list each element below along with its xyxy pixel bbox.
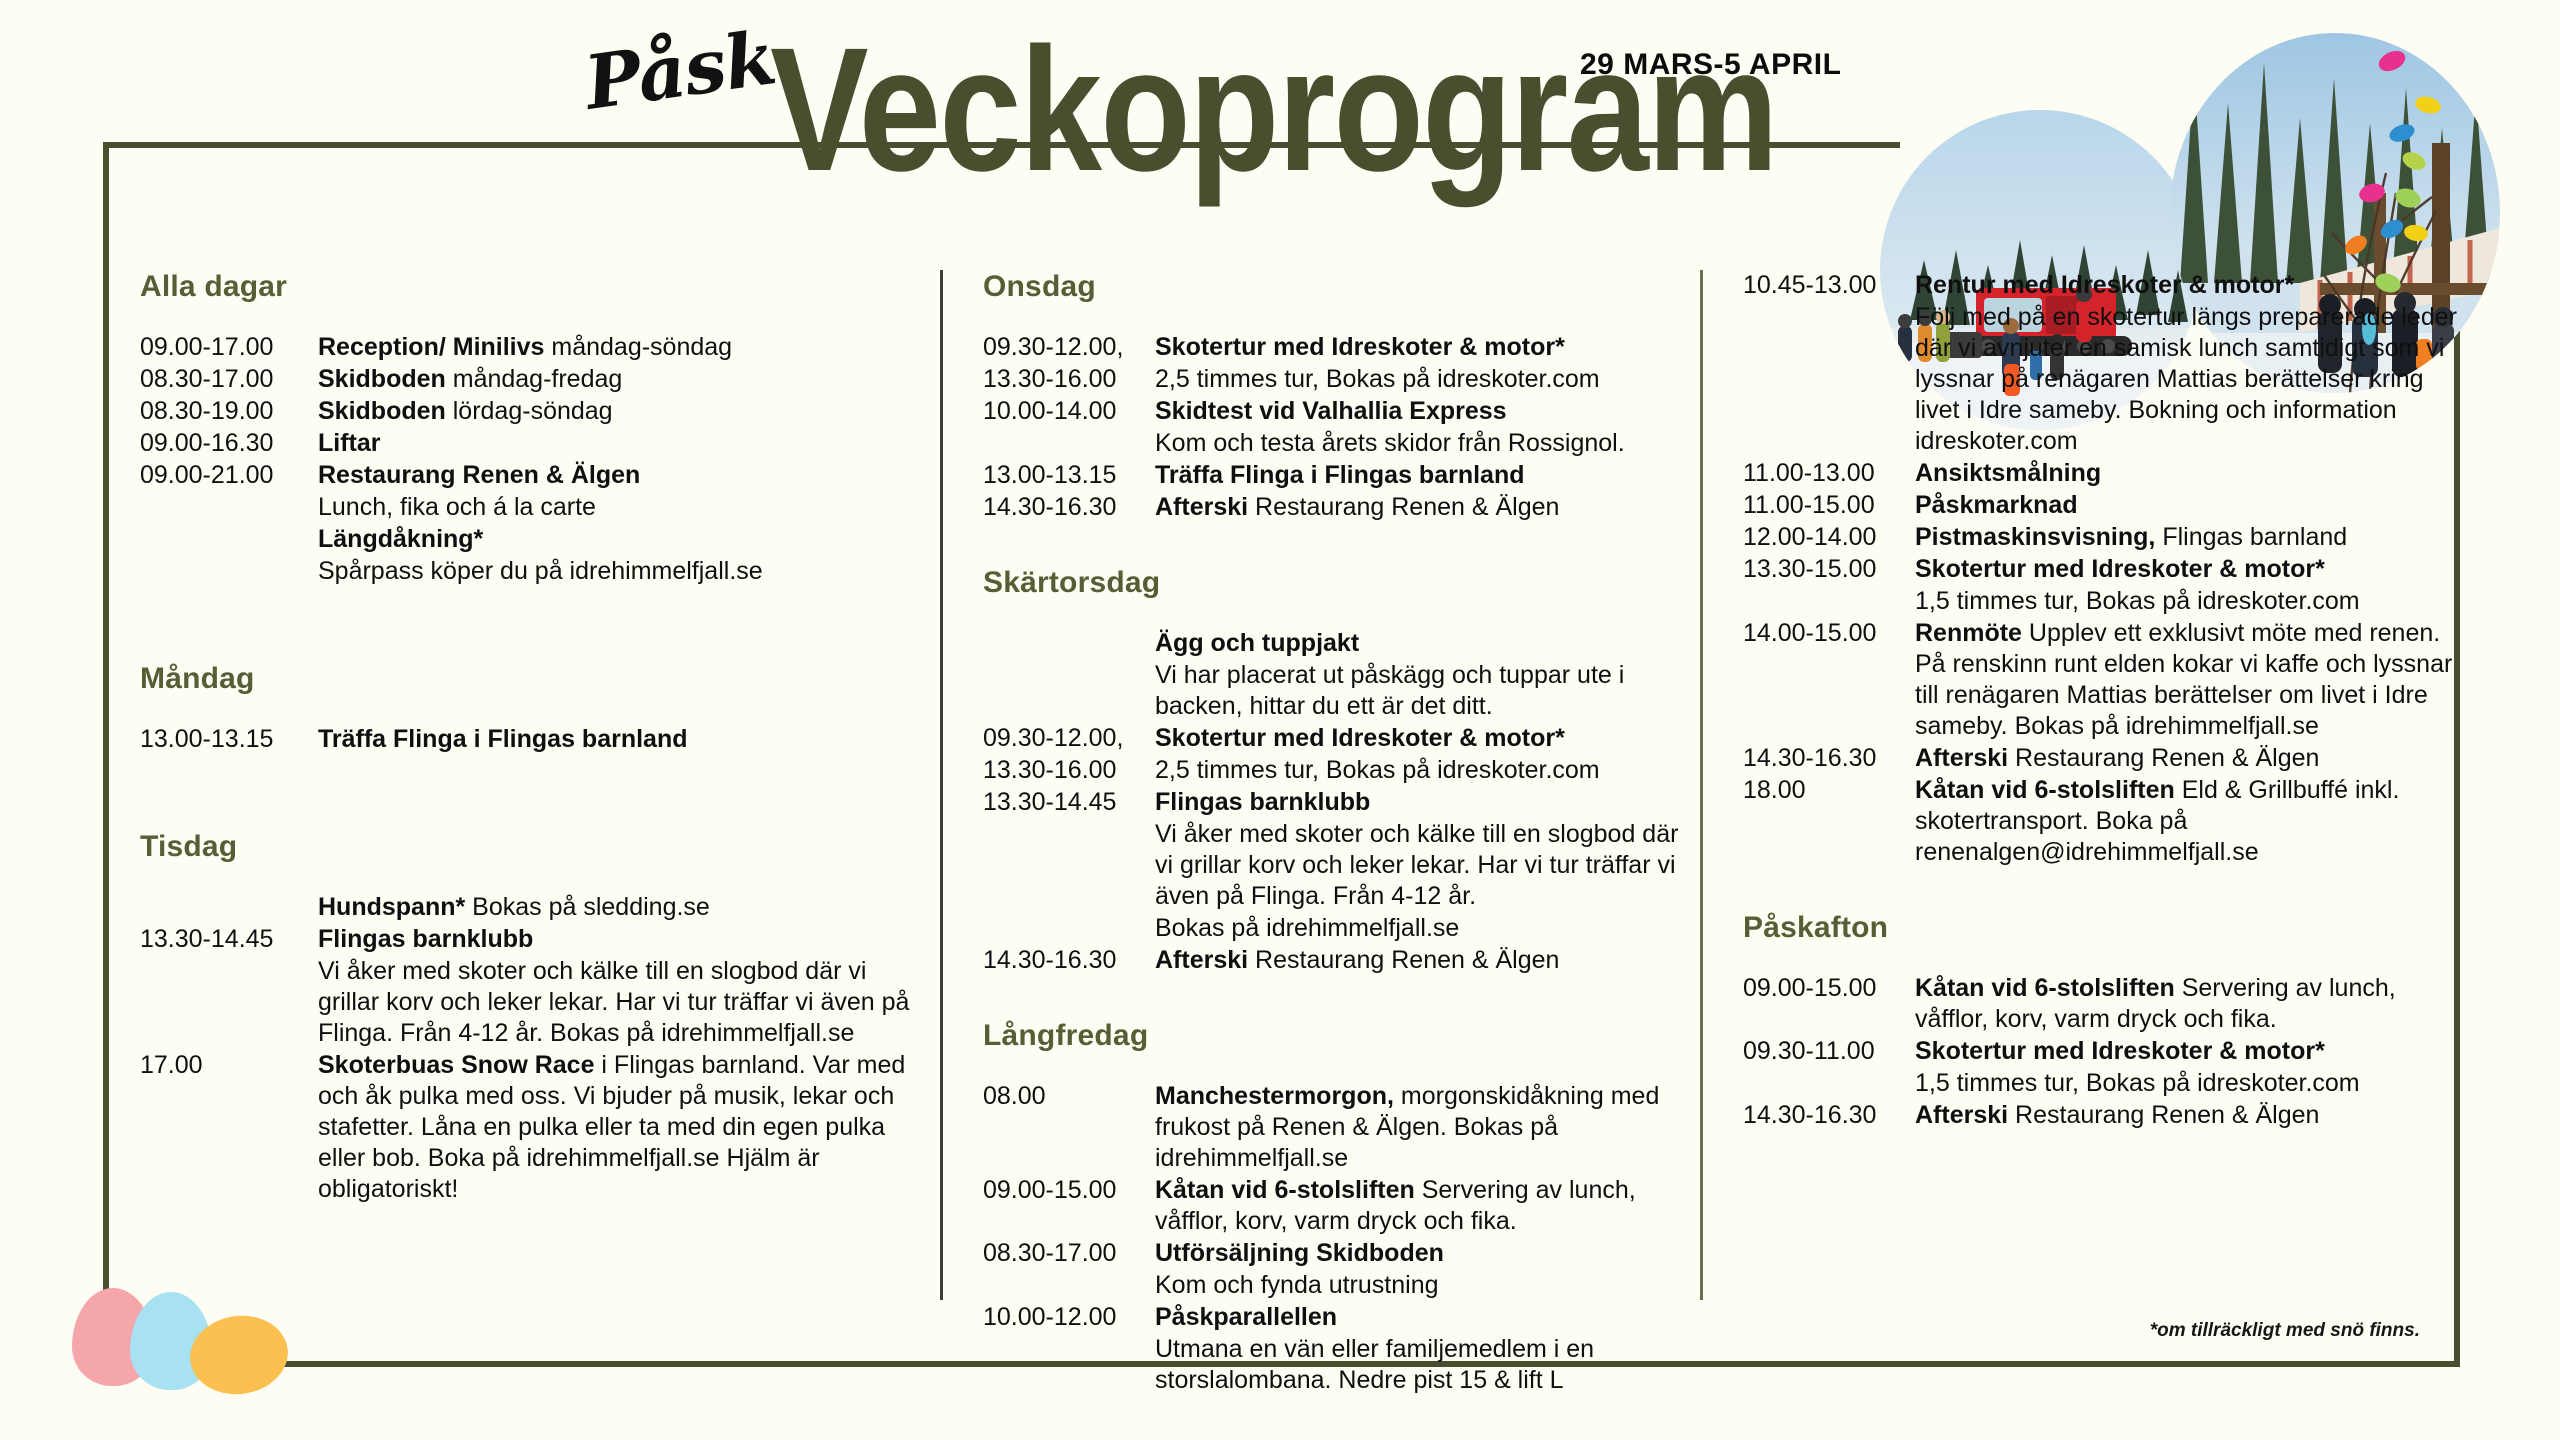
row-description: Vi har placerat ut påskägg och tuppar ut… (1155, 660, 1700, 722)
day-heading: Måndag (140, 662, 910, 696)
row-detail: Flingas barnland (2155, 523, 2347, 551)
row-title: Renmöte (1915, 619, 2022, 647)
program-row: 17.00Skoterbuas Snow Race i Flingas barn… (140, 1050, 910, 1205)
program-row: 13.30-15.00Skotertur med Idreskoter & mo… (1743, 554, 2460, 585)
row-time: 08.30-17.00 (983, 1238, 1155, 1269)
program-row: Kom och fynda utrustning (983, 1270, 1700, 1301)
row-description: Skoterbuas Snow Race i Flingas barnland.… (318, 1050, 910, 1205)
program-row: 10.00-12.00Påskparallellen (983, 1302, 1700, 1333)
row-description: Skotertur med Idreskoter & motor* (1155, 723, 1700, 754)
row-description: Hundspann* Bokas på sledding.se (318, 892, 910, 923)
program-row: 09.00-15.00Kåtan vid 6-stolsliften Serve… (1743, 973, 2460, 1035)
day-heading: Alla dagar (140, 270, 910, 304)
row-description: 2,5 timmes tur, Bokas på idreskoter.com (1155, 755, 1700, 786)
program-row: 13.30-14.45Flingas barnklubb (140, 924, 910, 955)
row-time: 09.00-21.00 (140, 460, 318, 491)
row-title: Påskparallellen (1155, 1303, 1337, 1331)
row-description: Kom och testa årets skidor från Rossigno… (1155, 428, 1700, 459)
row-title: Afterski (1155, 946, 1248, 974)
section-spacer (1743, 869, 2460, 911)
row-description: Skidtest vid Valhallia Express (1155, 396, 1700, 427)
row-time: 12.00-14.00 (1743, 522, 1915, 553)
row-title: Ansiktsmålning (1915, 459, 2101, 487)
row-detail: Följ med på en skotertur längs preparera… (1915, 303, 2457, 455)
row-detail: Bokas på idrehimmelfjall.se (1155, 914, 1459, 942)
row-detail: Restaurang Renen & Älgen (1248, 946, 1559, 974)
row-time: 14.30-16.30 (983, 492, 1155, 523)
row-description: Ägg och tuppjakt (1155, 628, 1700, 659)
heading-spacer (140, 310, 910, 332)
row-detail: Spårpass köper du på idrehimmelfjall.se (318, 557, 763, 585)
program-row: 13.00-13.15Träffa Flinga i Flingas barnl… (983, 460, 1700, 491)
program-row: Vi åker med skoter och kälke till en slo… (983, 819, 1700, 912)
row-detail: Vi har placerat ut påskägg och tuppar ut… (1155, 661, 1624, 720)
row-description: Utmana en vän eller familjemedlem i en s… (1155, 1334, 1700, 1396)
row-description: Renmöte Upplev ett exklusivt möte med re… (1915, 618, 2460, 742)
row-title: Reception/ Minilivs (318, 333, 544, 361)
row-time: 08.30-19.00 (140, 396, 318, 427)
row-description: Reception/ Minilivs måndag-söndag (318, 332, 910, 363)
row-time: 10.45-13.00 (1743, 270, 1915, 301)
row-time: 13.30-14.45 (140, 924, 318, 955)
program-row: Utmana en vän eller familjemedlem i en s… (983, 1334, 1700, 1396)
row-description: Restaurang Renen & Älgen (318, 460, 910, 491)
row-time: 09.30-12.00, (983, 723, 1155, 754)
row-title: Skotertur med Idreskoter & motor* (1915, 555, 2325, 583)
row-time: 08.00 (983, 1081, 1155, 1112)
row-description: Afterski Restaurang Renen & Älgen (1155, 945, 1700, 976)
row-time: 09.00-15.00 (983, 1175, 1155, 1206)
row-description: Påskparallellen (1155, 1302, 1700, 1333)
program-row: 08.30-17.00Skidboden måndag-fredag (140, 364, 910, 395)
row-time: 09.00-17.00 (140, 332, 318, 363)
row-time: 13.30-14.45 (983, 787, 1155, 818)
row-time: 14.00-15.00 (1743, 618, 1915, 649)
row-title: Kåtan vid 6-stolsliften (1915, 776, 2175, 804)
program-row: 1,5 timmes tur, Bokas på idreskoter.com (1743, 1068, 2460, 1099)
section-spacer (140, 756, 910, 830)
program-row: 14.30-16.30Afterski Restaurang Renen & Ä… (983, 945, 1700, 976)
row-detail: Kom och testa årets skidor från Rossigno… (1155, 429, 1625, 457)
row-title: Skidboden (318, 365, 446, 393)
row-title: Manchestermorgon, (1155, 1082, 1394, 1110)
row-title: Rentur med Idreskoter & motor* (1915, 271, 2294, 299)
heading-spacer (983, 310, 1700, 332)
row-description: Vi åker med skoter och kälke till en slo… (318, 956, 910, 1049)
row-time: 09.30-12.00, (983, 332, 1155, 363)
row-time: 14.30-16.30 (1743, 743, 1915, 774)
row-time: 09.00-16.30 (140, 428, 318, 459)
day-heading: Skärtorsdag (983, 566, 1700, 600)
row-time: 11.00-13.00 (1743, 458, 1915, 489)
row-title: Skotertur med Idreskoter & motor* (1915, 1037, 2325, 1065)
row-detail: 1,5 timmes tur, Bokas på idreskoter.com (1915, 587, 2360, 615)
row-title: Ägg och tuppjakt (1155, 629, 1359, 657)
program-row: 18.00Kåtan vid 6-stolsliften Eld & Grill… (1743, 775, 2460, 868)
row-description: Utförsäljning Skidboden (1155, 1238, 1700, 1269)
program-row: 13.30-16.002,5 timmes tur, Bokas på idre… (983, 755, 1700, 786)
row-description: Spårpass köper du på idrehimmelfjall.se (318, 556, 910, 587)
row-description: Rentur med Idreskoter & motor* (1915, 270, 2460, 301)
weekly-program-poster: Påsk Veckoprogram 29 MARS-5 APRIL (0, 0, 2560, 1440)
heading-spacer (140, 870, 910, 892)
row-time: 18.00 (1743, 775, 1915, 806)
program-row: 14.30-16.30Afterski Restaurang Renen & Ä… (1743, 1100, 2460, 1131)
section-spacer (140, 588, 910, 662)
row-description: Afterski Restaurang Renen & Älgen (1155, 492, 1700, 523)
section-spacer (983, 977, 1700, 1019)
program-row: Vi åker med skoter och kälke till en slo… (140, 956, 910, 1049)
row-detail: Restaurang Renen & Älgen (1248, 493, 1559, 521)
program-row: Vi har placerat ut påskägg och tuppar ut… (983, 660, 1700, 722)
row-description: Påskmarknad (1915, 490, 2460, 521)
section-spacer (983, 524, 1700, 566)
row-title: Flingas barnklubb (1155, 788, 1370, 816)
row-description: Träffa Flinga i Flingas barnland (1155, 460, 1700, 491)
row-detail: Vi åker med skoter och kälke till en slo… (318, 957, 909, 1047)
program-row: Bokas på idrehimmelfjall.se (983, 913, 1700, 944)
program-row: 09.30-12.00,Skotertur med Idreskoter & m… (983, 332, 1700, 363)
row-title: Påskmarknad (1915, 491, 2078, 519)
row-description: Kåtan vid 6-stolsliften Eld & Grillbuffé… (1915, 775, 2460, 868)
row-detail: måndag-fredag (446, 365, 623, 393)
row-description: Liftar (318, 428, 910, 459)
row-description: Bokas på idrehimmelfjall.se (1155, 913, 1700, 944)
row-time: 14.30-16.30 (1743, 1100, 1915, 1131)
heading-spacer (140, 702, 910, 724)
program-row: 09.00-21.00Restaurang Renen & Älgen (140, 460, 910, 491)
row-detail: Vi åker med skoter och kälke till en slo… (1155, 820, 1678, 910)
program-row: 10.45-13.00Rentur med Idreskoter & motor… (1743, 270, 2460, 301)
row-title: Hundspann* (318, 893, 465, 921)
program-row: 13.30-16.002,5 timmes tur, Bokas på idre… (983, 364, 1700, 395)
row-time: 10.00-14.00 (983, 396, 1155, 427)
row-title: Kåtan vid 6-stolsliften (1915, 974, 2175, 1002)
day-heading: Långfredag (983, 1019, 1700, 1053)
row-description: Kom och fynda utrustning (1155, 1270, 1700, 1301)
heading-spacer (983, 1059, 1700, 1081)
heading-spacer (1743, 951, 2460, 973)
day-heading: Påskafton (1743, 911, 2460, 945)
row-title: Skidboden (318, 397, 446, 425)
row-time: 09.30-11.00 (1743, 1036, 1915, 1067)
row-description: Lunch, fika och á la carte (318, 492, 910, 523)
row-title: Liftar (318, 429, 381, 457)
row-time: 13.30-16.00 (983, 755, 1155, 786)
row-detail: Utmana en vän eller familjemedlem i en s… (1155, 1335, 1594, 1394)
day-heading: Onsdag (983, 270, 1700, 304)
row-description: Manchestermorgon, morgonskidåkning med f… (1155, 1081, 1700, 1174)
row-description: Pistmaskinsvisning, Flingas barnland (1915, 522, 2460, 553)
program-row: 12.00-14.00Pistmaskinsvisning, Flingas b… (1743, 522, 2460, 553)
row-title: Afterski (1915, 744, 2008, 772)
column-2: Onsdag09.30-12.00,Skotertur med Idreskot… (940, 270, 1700, 1300)
program-row: 11.00-13.00Ansiktsmålning (1743, 458, 2460, 489)
heading-spacer (983, 606, 1700, 628)
row-time: 17.00 (140, 1050, 318, 1081)
row-title: Pistmaskinsvisning, (1915, 523, 2155, 551)
row-detail: Kom och fynda utrustning (1155, 1271, 1439, 1299)
program-columns: Alla dagar09.00-17.00Reception/ Minilivs… (140, 270, 2460, 1300)
row-title: Träffa Flinga i Flingas barnland (1155, 461, 1525, 489)
row-detail: 2,5 timmes tur, Bokas på idreskoter.com (1155, 365, 1600, 393)
program-row: 1,5 timmes tur, Bokas på idreskoter.com (1743, 586, 2460, 617)
date-range: 29 MARS-5 APRIL (1580, 48, 1841, 82)
row-time: 09.00-15.00 (1743, 973, 1915, 1004)
row-description: Träffa Flinga i Flingas barnland (318, 724, 910, 755)
row-detail: Bokas på sledding.se (465, 893, 710, 921)
program-row: 08.30-17.00Utförsäljning Skidboden (983, 1238, 1700, 1269)
row-description: 1,5 timmes tur, Bokas på idreskoter.com (1915, 1068, 2460, 1099)
row-detail: 2,5 timmes tur, Bokas på idreskoter.com (1155, 756, 1600, 784)
row-time: 13.30-16.00 (983, 364, 1155, 395)
row-description: Skotertur med Idreskoter & motor* (1915, 1036, 2460, 1067)
row-description: Skotertur med Idreskoter & motor* (1915, 554, 2460, 585)
row-description: Längdåkning* (318, 524, 910, 555)
program-row: Längdåkning* (140, 524, 910, 555)
day-heading: Tisdag (140, 830, 910, 864)
row-title: Skotertur med Idreskoter & motor* (1155, 333, 1565, 361)
row-time: 10.00-12.00 (983, 1302, 1155, 1333)
row-detail: Restaurang Renen & Älgen (2008, 744, 2319, 772)
row-description: Kåtan vid 6-stolsliften Servering av lun… (1155, 1175, 1700, 1237)
column-3: 10.45-13.00Rentur med Idreskoter & motor… (1700, 270, 2460, 1300)
program-row: Lunch, fika och á la carte (140, 492, 910, 523)
row-detail: Restaurang Renen & Älgen (2008, 1101, 2319, 1129)
row-description: Skidboden lördag-söndag (318, 396, 910, 427)
row-title: Skidtest vid Valhallia Express (1155, 397, 1507, 425)
program-row: 14.00-15.00Renmöte Upplev ett exklusivt … (1743, 618, 2460, 742)
program-row: Ägg och tuppjakt (983, 628, 1700, 659)
row-detail: lördag-söndag (446, 397, 613, 425)
row-description: 1,5 timmes tur, Bokas på idreskoter.com (1915, 586, 2460, 617)
easter-eggs-decoration (68, 1278, 318, 1408)
program-row: 14.30-16.30Afterski Restaurang Renen & Ä… (983, 492, 1700, 523)
row-time: 13.00-13.15 (140, 724, 318, 755)
program-row: 09.30-11.00Skotertur med Idreskoter & mo… (1743, 1036, 2460, 1067)
row-detail: Lunch, fika och á la carte (318, 493, 596, 521)
row-description: Följ med på en skotertur längs preparera… (1915, 302, 2460, 457)
row-description: Flingas barnklubb (1155, 787, 1700, 818)
row-title: Afterski (1155, 493, 1248, 521)
program-row: Följ med på en skotertur längs preparera… (1743, 302, 2460, 457)
row-time: 11.00-15.00 (1743, 490, 1915, 521)
program-row: Hundspann* Bokas på sledding.se (140, 892, 910, 923)
row-description: Skotertur med Idreskoter & motor* (1155, 332, 1700, 363)
row-description: Kåtan vid 6-stolsliften Servering av lun… (1915, 973, 2460, 1035)
pask-script-word: Påsk (580, 15, 781, 127)
row-title: Kåtan vid 6-stolsliften (1155, 1176, 1415, 1204)
row-title: Utförsäljning Skidboden (1155, 1239, 1444, 1267)
row-description: Afterski Restaurang Renen & Älgen (1915, 743, 2460, 774)
row-description: Flingas barnklubb (318, 924, 910, 955)
row-title: Restaurang Renen & Älgen (318, 461, 640, 489)
program-row: 10.00-14.00Skidtest vid Valhallia Expres… (983, 396, 1700, 427)
program-row: 08.00Manchestermorgon, morgonskidåkning … (983, 1081, 1700, 1174)
program-row: 09.00-17.00Reception/ Minilivs måndag-sö… (140, 332, 910, 363)
program-row: 08.30-19.00Skidboden lördag-söndag (140, 396, 910, 427)
row-time: 13.00-13.15 (983, 460, 1155, 491)
row-time: 08.30-17.00 (140, 364, 318, 395)
row-title: Afterski (1915, 1101, 2008, 1129)
row-title: Skotertur med Idreskoter & motor* (1155, 724, 1565, 752)
program-row: 14.30-16.30Afterski Restaurang Renen & Ä… (1743, 743, 2460, 774)
row-description: Vi åker med skoter och kälke till en slo… (1155, 819, 1700, 912)
program-row: 09.30-12.00,Skotertur med Idreskoter & m… (983, 723, 1700, 754)
program-row: Spårpass köper du på idrehimmelfjall.se (140, 556, 910, 587)
row-title: Längdåkning* (318, 525, 483, 553)
row-description: Ansiktsmålning (1915, 458, 2460, 489)
program-row: 13.00-13.15 Träffa Flinga i Flingas barn… (140, 724, 910, 755)
row-detail: måndag-söndag (544, 333, 732, 361)
row-title: Träffa Flinga i Flingas barnland (318, 725, 688, 753)
footnote: *om tillräckligt med snö finns. (2150, 1320, 2420, 1342)
row-time: 13.30-15.00 (1743, 554, 1915, 585)
column-1: Alla dagar09.00-17.00Reception/ Minilivs… (140, 270, 940, 1300)
row-description: Skidboden måndag-fredag (318, 364, 910, 395)
row-title: Skoterbuas Snow Race (318, 1051, 594, 1079)
row-detail: 1,5 timmes tur, Bokas på idreskoter.com (1915, 1069, 2360, 1097)
row-description: 2,5 timmes tur, Bokas på idreskoter.com (1155, 364, 1700, 395)
program-row: 09.00-16.30Liftar (140, 428, 910, 459)
row-title: Flingas barnklubb (318, 925, 533, 953)
program-row: 09.00-15.00Kåtan vid 6-stolsliften Serve… (983, 1175, 1700, 1237)
row-time: 14.30-16.30 (983, 945, 1155, 976)
row-description: Afterski Restaurang Renen & Älgen (1915, 1100, 2460, 1131)
program-row: 13.30-14.45Flingas barnklubb (983, 787, 1700, 818)
program-row: Kom och testa årets skidor från Rossigno… (983, 428, 1700, 459)
program-row: 11.00-15.00Påskmarknad (1743, 490, 2460, 521)
